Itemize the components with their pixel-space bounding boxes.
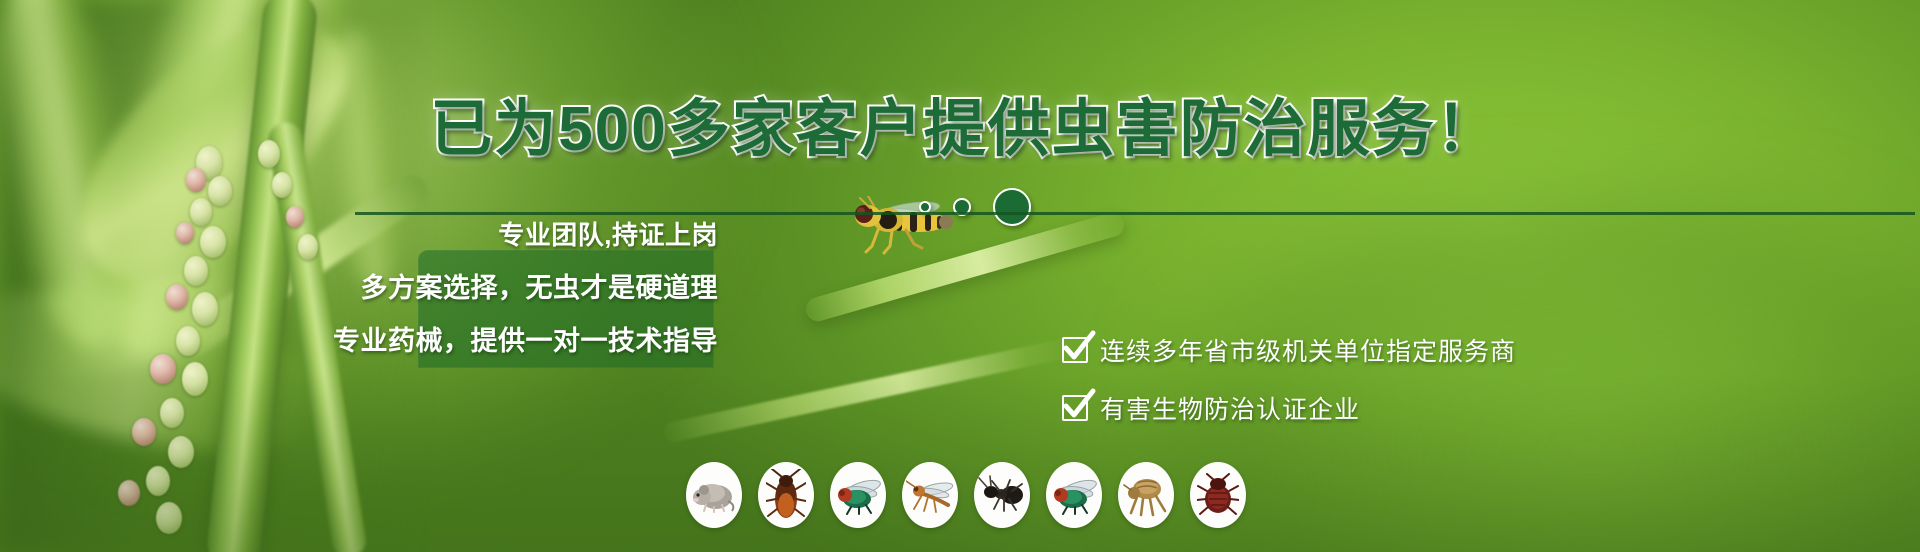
credential-label: 有害生物防治认证企业 (1100, 390, 1360, 426)
credentials-list: 连续多年省市级机关单位指定服务商 有害生物防治认证企业 (1062, 332, 1516, 426)
pest-control-banner: 已为500多家客户提供虫害防治服务！ 专业团队,持证上岗 多方案选择，无虫才是硬… (0, 0, 1920, 552)
checkbox-checked-icon (1062, 337, 1088, 363)
pest-types-row (686, 462, 1246, 528)
headline: 已为500多家客户提供虫害防治服务！ (0, 78, 1920, 168)
checkbox-checked-icon (1062, 395, 1088, 421)
credential-item: 有害生物防治认证企业 (1062, 390, 1516, 426)
decorative-dots (0, 188, 1920, 226)
fly-icon[interactable] (1046, 462, 1102, 528)
selling-point-line: 专业药械，提供一对一技术指导 (333, 319, 718, 358)
decorative-dot-large (993, 188, 1031, 226)
flea-icon[interactable] (1118, 462, 1174, 528)
bedbug-icon[interactable] (1190, 462, 1246, 528)
selling-points-list: 专业团队,持证上岗 多方案选择，无虫才是硬道理 专业药械，提供一对一技术指导 (330, 215, 730, 358)
fly-icon[interactable] (830, 462, 886, 528)
cockroach-icon[interactable] (758, 462, 814, 528)
ant-icon[interactable] (974, 462, 1030, 528)
mosquito-icon[interactable] (902, 462, 958, 528)
credential-item: 连续多年省市级机关单位指定服务商 (1062, 332, 1516, 368)
selling-point-line: 专业团队,持证上岗 (498, 215, 718, 252)
selling-point-line: 多方案选择，无虫才是硬道理 (361, 266, 719, 305)
credential-label: 连续多年省市级机关单位指定服务商 (1100, 332, 1516, 368)
mouse-icon[interactable] (686, 462, 742, 528)
headline-text: 已为500多家客户提供虫害防治服务！ (430, 78, 1499, 168)
